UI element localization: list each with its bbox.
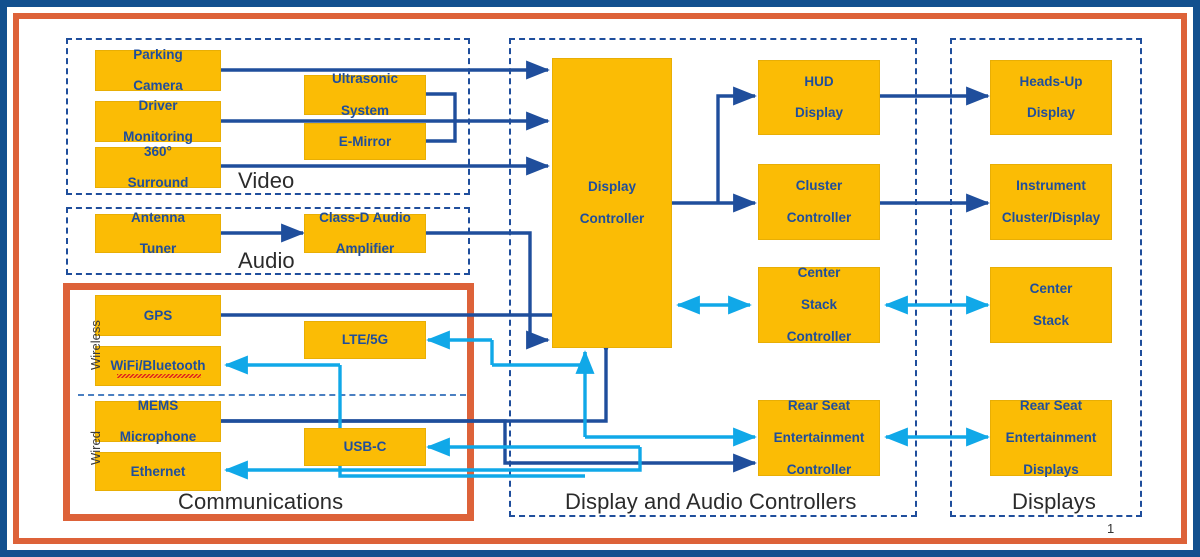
node-label: Antenna [128, 210, 188, 226]
node-label: Ultrasonic [329, 71, 401, 87]
node-center-stack[interactable]: Center Stack [990, 267, 1112, 343]
node-label: Controller [577, 211, 648, 227]
node-label: Heads-Up [1016, 74, 1085, 90]
side-label-wireless: Wireless [88, 320, 103, 370]
node-label: WiFi/Bluetooth [107, 358, 208, 374]
node-label: Instrument [999, 178, 1103, 194]
node-label: USB-C [341, 439, 390, 455]
node-label: Stack [1027, 313, 1076, 329]
node-label: Display [1016, 105, 1085, 121]
node-rear-seat-entertainment-displays[interactable]: Rear Seat Entertainment Displays [990, 400, 1112, 476]
node-label: Center [1027, 281, 1076, 297]
node-label: Ethernet [128, 464, 189, 480]
node-antenna-tuner[interactable]: Antenna Tuner [95, 214, 221, 253]
node-label: Display [792, 105, 846, 121]
group-label-audio: Audio [238, 248, 295, 274]
node-label: Display [577, 179, 648, 195]
node-label: Cluster [784, 178, 855, 194]
node-e-mirror[interactable]: E-Mirror [304, 123, 426, 160]
node-label: 360° [125, 144, 192, 160]
node-label: LTE/5G [339, 332, 391, 348]
group-label-displays: Displays [1012, 489, 1096, 515]
node-label: Entertainment [771, 430, 868, 446]
node-rear-seat-entertainment-controller[interactable]: Rear Seat Entertainment Controller [758, 400, 880, 476]
node-label: Controller [771, 462, 868, 478]
node-label: Class-D Audio [316, 210, 414, 226]
group-label-controllers: Display and Audio Controllers [565, 489, 857, 515]
node-driver-monitoring[interactable]: Driver Monitoring [95, 101, 221, 142]
group-label-video: Video [238, 168, 294, 194]
group-label-communications: Communications [178, 489, 343, 515]
node-ethernet[interactable]: Ethernet [95, 452, 221, 491]
node-label: Camera [130, 78, 186, 94]
node-label: HUD [792, 74, 846, 90]
node-label: Microphone [117, 429, 200, 445]
node-center-stack-controller[interactable]: Center Stack Controller [758, 267, 880, 343]
node-label: Controller [784, 329, 855, 345]
node-usb-c[interactable]: USB-C [304, 428, 426, 466]
node-lte-5g[interactable]: LTE/5G [304, 321, 426, 359]
slide-canvas: Parking Camera Driver Monitoring 360° Su… [0, 0, 1200, 557]
node-label: Entertainment [1003, 430, 1100, 446]
node-label: Rear Seat [1003, 398, 1100, 414]
node-label: Stack [784, 297, 855, 313]
node-ultrasonic-system[interactable]: Ultrasonic System [304, 75, 426, 115]
side-label-wired: Wired [88, 431, 103, 465]
node-class-d-audio-amplifier[interactable]: Class-D Audio Amplifier [304, 214, 426, 253]
node-label: GPS [141, 308, 176, 324]
spellcheck-squiggle-icon [117, 374, 201, 378]
node-cluster-controller[interactable]: Cluster Controller [758, 164, 880, 240]
node-wifi-bluetooth[interactable]: WiFi/Bluetooth [95, 346, 221, 386]
node-instrument-cluster-display[interactable]: Instrument Cluster/Display [990, 164, 1112, 240]
node-label: Driver [120, 98, 196, 114]
node-label: System [329, 103, 401, 119]
node-label: Displays [1003, 462, 1100, 478]
page-number: 1 [1107, 521, 1114, 536]
node-label: Center [784, 265, 855, 281]
node-label: Surround [125, 175, 192, 191]
node-mems-microphone[interactable]: MEMS Microphone [95, 401, 221, 442]
node-label: Rear Seat [771, 398, 868, 414]
node-parking-camera[interactable]: Parking Camera [95, 50, 221, 91]
node-label: MEMS [117, 398, 200, 414]
node-heads-up-display[interactable]: Heads-Up Display [990, 60, 1112, 135]
node-label: Cluster/Display [999, 210, 1103, 226]
node-360-surround[interactable]: 360° Surround [95, 147, 221, 188]
node-label: Controller [784, 210, 855, 226]
node-label: Parking [130, 47, 186, 63]
node-gps[interactable]: GPS [95, 295, 221, 336]
node-label: E-Mirror [336, 134, 395, 150]
node-label: Amplifier [316, 241, 414, 257]
node-display-controller[interactable]: Display Controller [552, 58, 672, 348]
node-hud-display[interactable]: HUD Display [758, 60, 880, 135]
node-label: Tuner [128, 241, 188, 257]
